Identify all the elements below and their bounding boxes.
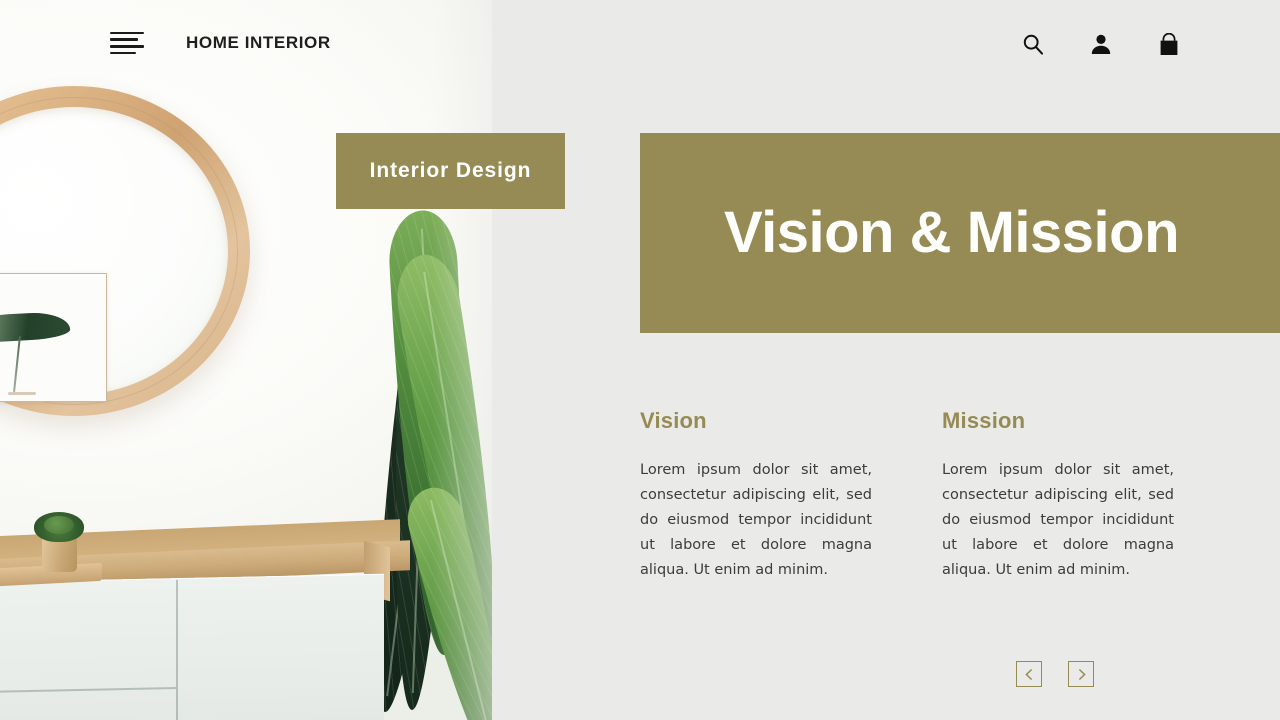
page-title: Vision & Mission (640, 204, 1179, 262)
vision-column: Vision Lorem ipsum dolor sit amet, conse… (640, 408, 872, 583)
leaf-stem (13, 336, 20, 392)
leaf-illustration (0, 311, 71, 344)
hero-title-banner: Vision & Mission (640, 133, 1280, 333)
mission-heading: Mission (942, 408, 1174, 434)
sideboard-doors (0, 574, 384, 720)
succulent-plant (34, 512, 84, 542)
framed-leaf-picture (0, 273, 107, 402)
frame-bottom-mark (8, 392, 36, 395)
category-tag: Interior Design (336, 133, 565, 209)
user-account-icon[interactable] (1088, 30, 1114, 58)
chevron-right-icon (1076, 668, 1087, 681)
mission-body: Lorem ipsum dolor sit amet, consectetur … (942, 458, 1174, 583)
slide-pager (1016, 661, 1094, 687)
mission-column: Mission Lorem ipsum dolor sit amet, cons… (942, 408, 1174, 583)
next-slide-button[interactable] (1068, 661, 1094, 687)
search-icon[interactable] (1020, 30, 1046, 58)
shopping-bag-icon[interactable] (1156, 30, 1182, 58)
site-header: HOME INTERIOR (0, 0, 1280, 88)
vision-heading: Vision (640, 408, 872, 434)
chevron-left-icon (1024, 668, 1035, 681)
brand-title: HOME INTERIOR (186, 33, 331, 53)
slide-root: HOME INTERIOR (0, 0, 1280, 720)
wooden-sideboard (0, 528, 432, 720)
hamburger-menu-icon[interactable] (110, 30, 144, 56)
sideboard-seam (176, 580, 178, 720)
hero-photo (0, 0, 492, 720)
category-tag-label: Interior Design (370, 159, 532, 183)
vision-body: Lorem ipsum dolor sit amet, consectetur … (640, 458, 872, 583)
content-columns: Vision Lorem ipsum dolor sit amet, conse… (640, 408, 1180, 583)
header-actions (1020, 30, 1182, 58)
prev-slide-button[interactable] (1016, 661, 1042, 687)
